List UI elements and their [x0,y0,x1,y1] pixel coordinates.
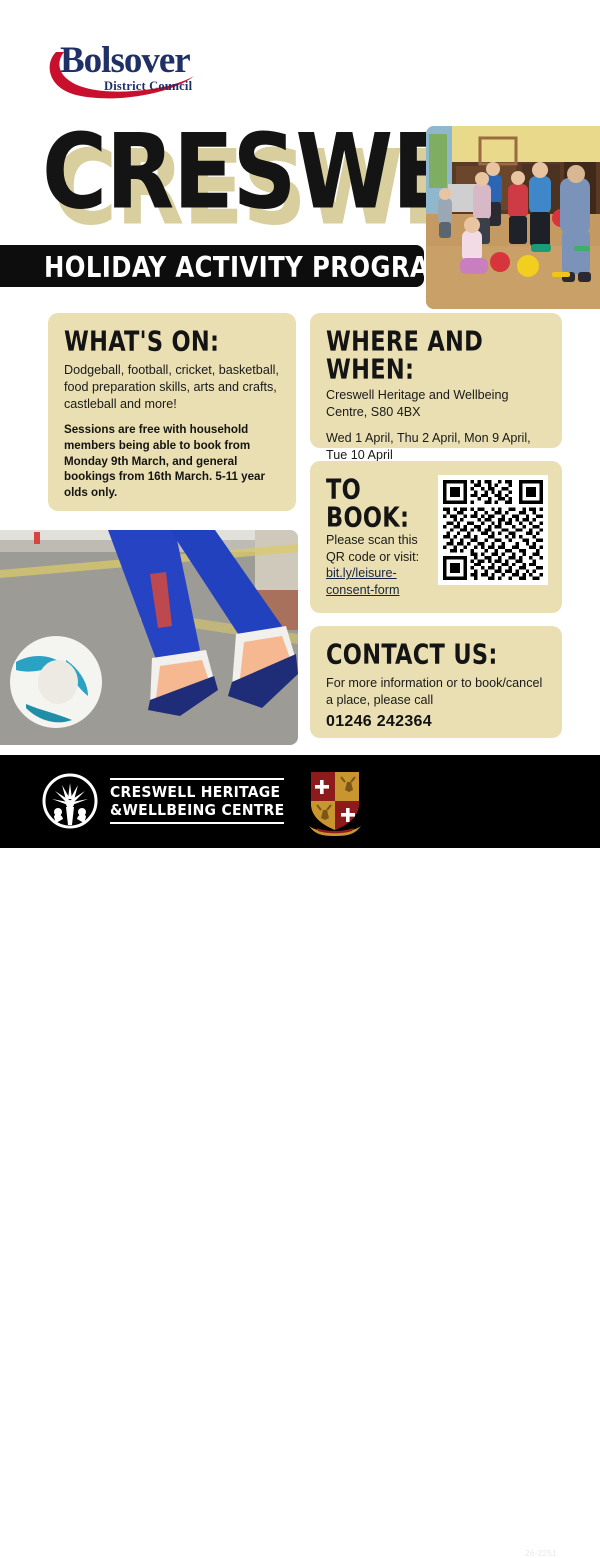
heritage-centre-line-2: &WELLBEING CENTRE [110,801,284,819]
wordmark-rule-top [110,778,284,780]
session-dates: Wed 1 April, Thu 2 April, Mon 9 April, T… [326,430,546,464]
to-book-instruction: Please scan this QR code or visit: [326,532,428,565]
whats-on-activities: Dodgeball, football, cricket, basketball… [64,362,280,413]
venue-address: Creswell Heritage and Wellbeing Centre, … [326,387,546,421]
to-book-heading: TO BOOK: [326,475,428,531]
programme-banner: HOLIDAY ACTIVITY PROGRAMME [0,245,424,287]
bolsover-coat-of-arms-icon [305,768,365,836]
qr-code[interactable] [438,475,548,585]
logo-subtitle: District Council [104,80,192,93]
wordmark-rule-bottom [110,822,284,824]
reference-code: 26-2251 [525,1549,557,1558]
creswell-title: CRESWELL CRESWELL [42,120,442,245]
bolsover-district-council-logo: Bolsover District Council [42,40,222,102]
contact-us-text: For more information or to book/cancel a… [326,675,546,709]
contact-phone-number[interactable]: 01246 242364 [326,713,546,731]
heritage-centre-wordmark: CRESWELL HERITAGE &WELLBEING CENTRE [110,775,284,828]
poster-footer: CRESWELL HERITAGE &WELLBEING CENTRE 26-2… [0,755,600,848]
logo-wordmark: Bolsover [60,42,190,79]
to-book-box: TO BOOK: Please scan this QR code or vis… [310,461,562,613]
heritage-centre-line-1: CRESWELL HERITAGE [110,783,280,801]
where-and-when-heading: WHERE AND WHEN: [326,327,546,383]
contact-us-heading: CONTACT US: [326,640,546,668]
booking-link[interactable]: bit.ly/leisure-consent-form [326,565,428,598]
football-photo [0,530,298,745]
where-and-when-box: WHERE AND WHEN: Creswell Heritage and We… [310,313,562,448]
dodgeball-photo [426,126,600,309]
heritage-centre-emblem-icon [42,773,98,829]
whats-on-heading: WHAT'S ON: [64,327,280,355]
whats-on-note: Sessions are free with household members… [64,422,280,501]
whats-on-box: WHAT'S ON: Dodgeball, football, cricket,… [48,313,296,511]
contact-us-box: CONTACT US: For more information or to b… [310,626,562,738]
creswell-heritage-wellbeing-centre-logo: CRESWELL HERITAGE &WELLBEING CENTRE [42,772,292,830]
